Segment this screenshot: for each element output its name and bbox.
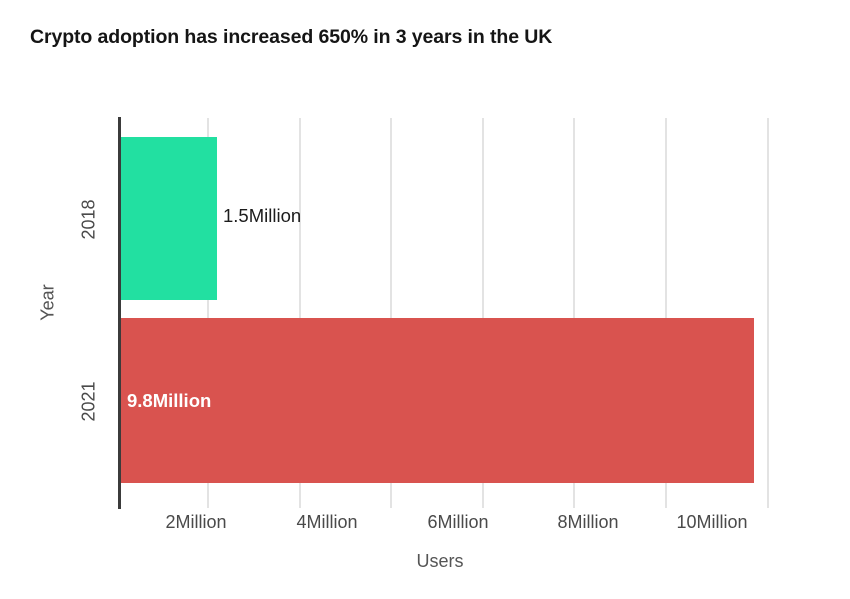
bar-2018[interactable] xyxy=(121,137,217,300)
x-axis-title: Users xyxy=(416,551,463,571)
y-axis-line xyxy=(118,117,121,509)
x-axis-tick-6million: 6Million xyxy=(427,512,488,533)
x-axis-tick-2million: 2Million xyxy=(165,512,226,533)
x-axis-tick-4million: 4Million xyxy=(296,512,357,533)
bar-value-label-2018: 1.5Million xyxy=(223,205,301,227)
y-axis-title: Year xyxy=(38,277,59,329)
bar-2021[interactable] xyxy=(121,318,754,483)
y-axis-tick-2021: 2021 xyxy=(79,377,100,427)
x-axis-tick-10million: 10Million xyxy=(676,512,747,533)
x-axis-title-wrap: Users xyxy=(0,551,850,572)
gridline-7 xyxy=(767,118,769,508)
plot-area xyxy=(121,118,821,508)
bar-value-label-2021: 9.8Million xyxy=(127,390,211,412)
chart-title: Crypto adoption has increased 650% in 3 … xyxy=(30,26,552,49)
y-axis-tick-2018: 2018 xyxy=(79,195,100,245)
x-axis-tick-8million: 8Million xyxy=(557,512,618,533)
chart-container: Crypto adoption has increased 650% in 3 … xyxy=(0,0,850,599)
